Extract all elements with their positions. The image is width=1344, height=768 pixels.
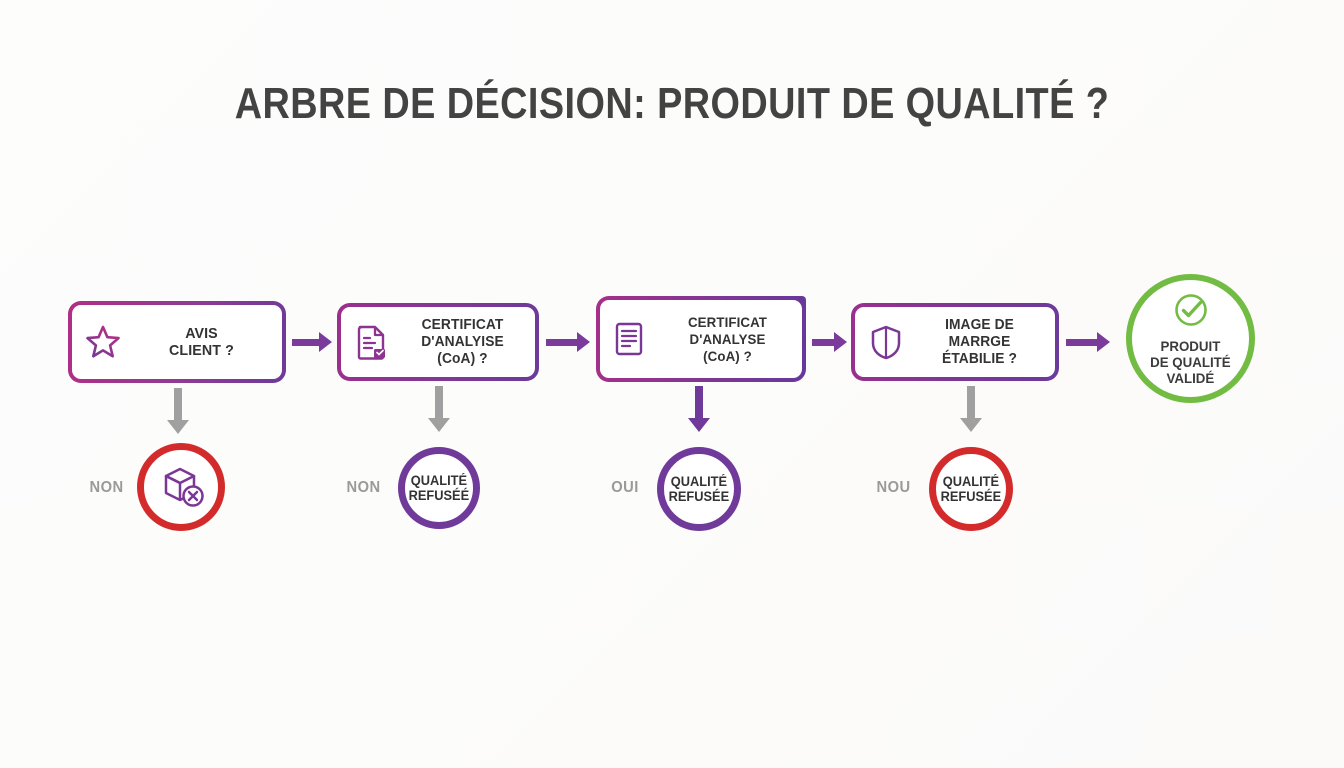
star-icon bbox=[84, 322, 122, 362]
node-label-line1: CERTIFICAT D'ANALYSE bbox=[688, 314, 767, 347]
node-label-line2: CLIENT ? bbox=[135, 342, 269, 359]
decision-node-label: CERTIFICAT D'ANALYSE (CoA) ? bbox=[661, 314, 795, 365]
outcome-label: PRODUIT DE QUALITÉ VALIDÉ bbox=[1150, 338, 1231, 386]
branch-arrow-2 bbox=[428, 386, 450, 432]
package-rejected-icon bbox=[156, 460, 206, 515]
branch-arrow-3 bbox=[688, 386, 710, 432]
outcome-label: QUALITÉ REFUSÉE bbox=[941, 474, 1002, 505]
node-label-line2: ÉTABILIE ? bbox=[917, 351, 1041, 368]
outcome-label-line3: VALIDÉ bbox=[1167, 370, 1215, 386]
flow-arrow-2 bbox=[546, 334, 590, 350]
node-label-line2: (CoA) ? bbox=[661, 348, 795, 365]
outcome-label-line2: REFUSÉE bbox=[941, 489, 1002, 504]
outcome-label: QUALITÉ REFUSÉE bbox=[669, 474, 730, 505]
decision-node-label: AVIS CLIENT ? bbox=[135, 325, 269, 359]
outcome-label-line1: QUALITÉ bbox=[411, 473, 467, 488]
outcome-label-line2: DE QUALITÉ bbox=[1150, 354, 1231, 370]
outcome-label-line2: REFUSÉE bbox=[669, 489, 730, 504]
decision-node-image-marrge[interactable]: IMAGE DE MARRGE ÉTABILIE ? bbox=[851, 303, 1059, 381]
branch-arrow-1 bbox=[167, 388, 189, 434]
node-label-line1: CERTIFICAT bbox=[422, 317, 504, 333]
decision-node-certificat-analyise[interactable]: CERTIFICAT D'ANALYISE (CoA) ? bbox=[337, 303, 539, 381]
decision-node-certificat-analyse[interactable]: CERTIFICAT D'ANALYSE (CoA) ? bbox=[596, 296, 806, 382]
outcome-label-line2: REFUSÉÉ bbox=[409, 488, 470, 503]
outcome-produit-refuse-1[interactable] bbox=[137, 443, 225, 531]
shield-icon bbox=[867, 322, 905, 362]
branch-tag-1: NON bbox=[89, 479, 123, 497]
decision-node-avis-client[interactable]: AVIS CLIENT ? bbox=[68, 301, 286, 383]
decision-tree-diagram: AVIS CLIENT ? CERTIFICAT D'ANALYISE (CoA… bbox=[0, 0, 1344, 768]
document-lines-icon bbox=[610, 319, 648, 359]
flow-arrow-1 bbox=[292, 334, 332, 350]
outcome-label-line1: PRODUIT bbox=[1161, 338, 1221, 354]
flow-arrow-3 bbox=[812, 334, 847, 350]
node-label-line1: IMAGE DE MARRGE bbox=[945, 317, 1014, 350]
outcome-qualite-refusee-2[interactable]: QUALITÉ REFUSÉÉ bbox=[398, 447, 480, 529]
branch-tag-3: OUI bbox=[611, 479, 639, 497]
outcome-qualite-refusee-3[interactable]: QUALITÉ REFUSÉE bbox=[657, 447, 741, 531]
branch-arrow-4 bbox=[960, 386, 982, 432]
check-circle-icon bbox=[1172, 291, 1210, 334]
node-label-line1: AVIS bbox=[185, 325, 218, 342]
outcome-label-line1: QUALITÉ bbox=[943, 474, 999, 489]
outcome-qualite-refusee-4[interactable]: QUALITÉ REFUSÉE bbox=[929, 447, 1013, 531]
outcome-produit-valide[interactable]: PRODUIT DE QUALITÉ VALIDÉ bbox=[1126, 274, 1255, 403]
branch-tag-4: NOU bbox=[876, 479, 910, 497]
decision-node-label: IMAGE DE MARRGE ÉTABILIE ? bbox=[917, 317, 1041, 368]
certificate-document-icon bbox=[353, 322, 391, 362]
node-label-line2: D'ANALYISE (CoA) ? bbox=[403, 334, 522, 368]
outcome-label-line1: QUALITÉ bbox=[671, 474, 727, 489]
decision-node-label: CERTIFICAT D'ANALYISE (CoA) ? bbox=[403, 317, 522, 368]
flow-arrow-4 bbox=[1066, 334, 1110, 350]
branch-tag-2: NON bbox=[346, 479, 380, 497]
outcome-label: QUALITÉ REFUSÉÉ bbox=[409, 473, 470, 504]
